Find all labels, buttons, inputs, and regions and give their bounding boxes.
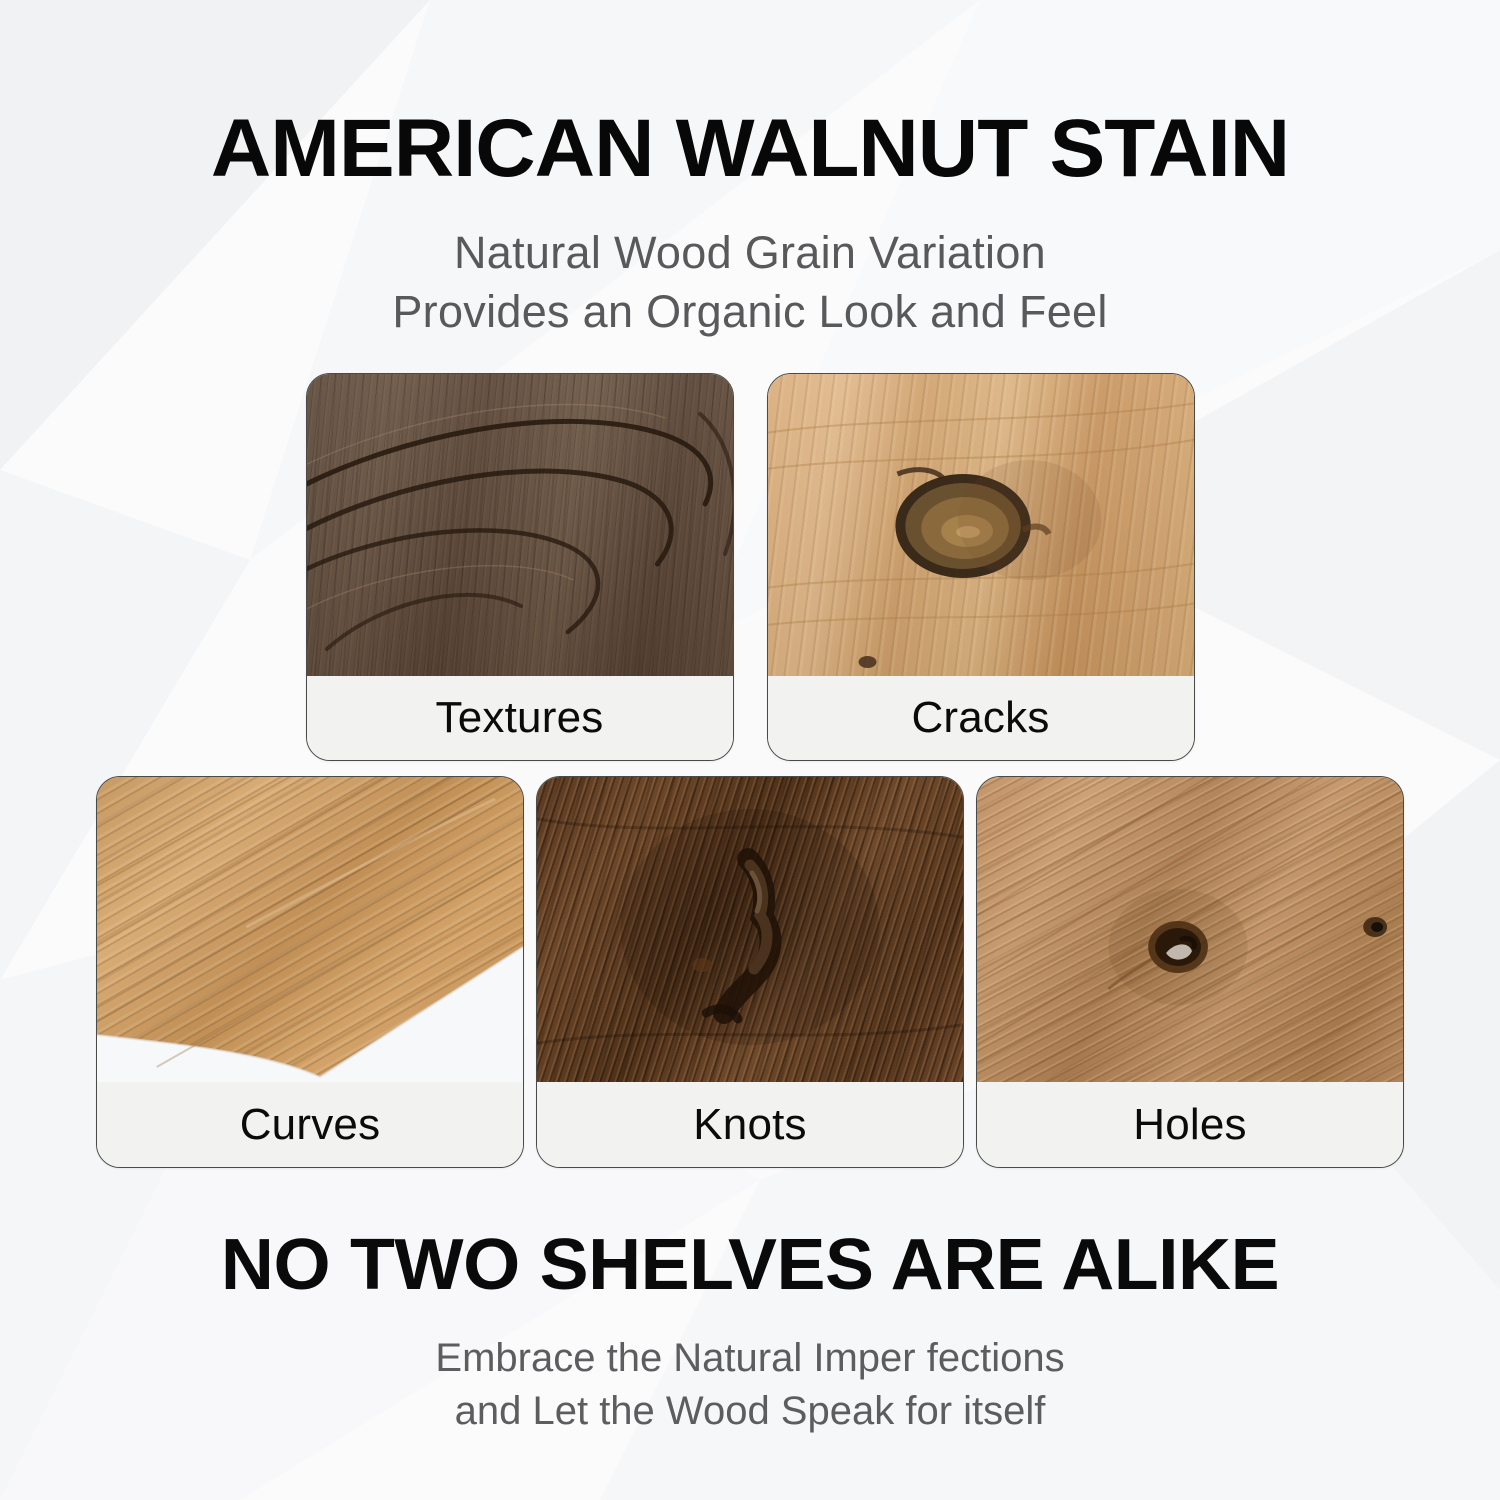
bore-hole-icon (977, 777, 1403, 1082)
footer-subtitle-line-2: and Let the Wood Speak for itself (0, 1385, 1500, 1438)
swatch-image-textures (307, 374, 733, 676)
center-knot-streak-icon (537, 777, 963, 1082)
footer-subtitle-line-1: Embrace the Natural Imper fections (0, 1332, 1500, 1385)
swatch-label-cracks: Cracks (768, 676, 1194, 760)
header: AMERICAN WALNUT STAIN Natural Wood Grain… (0, 0, 1500, 341)
page-subtitle: Natural Wood Grain Variation Provides an… (0, 224, 1500, 341)
page-subtitle-line-2: Provides an Organic Look and Feel (0, 283, 1500, 342)
swatch-card-knots[interactable]: Knots (536, 776, 964, 1168)
swatch-label-holes: Holes (977, 1082, 1403, 1167)
swatch-label-curves: Curves (97, 1082, 523, 1167)
swatch-image-knots (537, 777, 963, 1082)
oval-knot-icon (768, 374, 1194, 676)
swatch-row-bottom: Curves Knots (0, 776, 1500, 1168)
swatch-image-curves (97, 777, 523, 1082)
swatch-row-top: Textures (0, 373, 1500, 761)
footer: NO TWO SHELVES ARE ALIKE Embrace the Nat… (0, 1224, 1500, 1438)
swatch-card-textures[interactable]: Textures (306, 373, 734, 761)
footer-title: NO TWO SHELVES ARE ALIKE (0, 1224, 1500, 1306)
footer-subtitle: Embrace the Natural Imper fections and L… (0, 1332, 1500, 1438)
swatch-image-holes (977, 777, 1403, 1082)
swatch-card-holes[interactable]: Holes (976, 776, 1404, 1168)
swatch-label-textures: Textures (307, 676, 733, 760)
swatch-card-curves[interactable]: Curves (96, 776, 524, 1168)
page-title: AMERICAN WALNUT STAIN (0, 108, 1500, 190)
swatch-image-cracks (768, 374, 1194, 676)
swatch-label-knots: Knots (537, 1082, 963, 1167)
swatch-card-cracks[interactable]: Cracks (767, 373, 1195, 761)
plank-edge-cutout-icon (97, 777, 523, 1082)
page-subtitle-line-1: Natural Wood Grain Variation (0, 224, 1500, 283)
arc-grain-lines-icon (307, 374, 733, 676)
